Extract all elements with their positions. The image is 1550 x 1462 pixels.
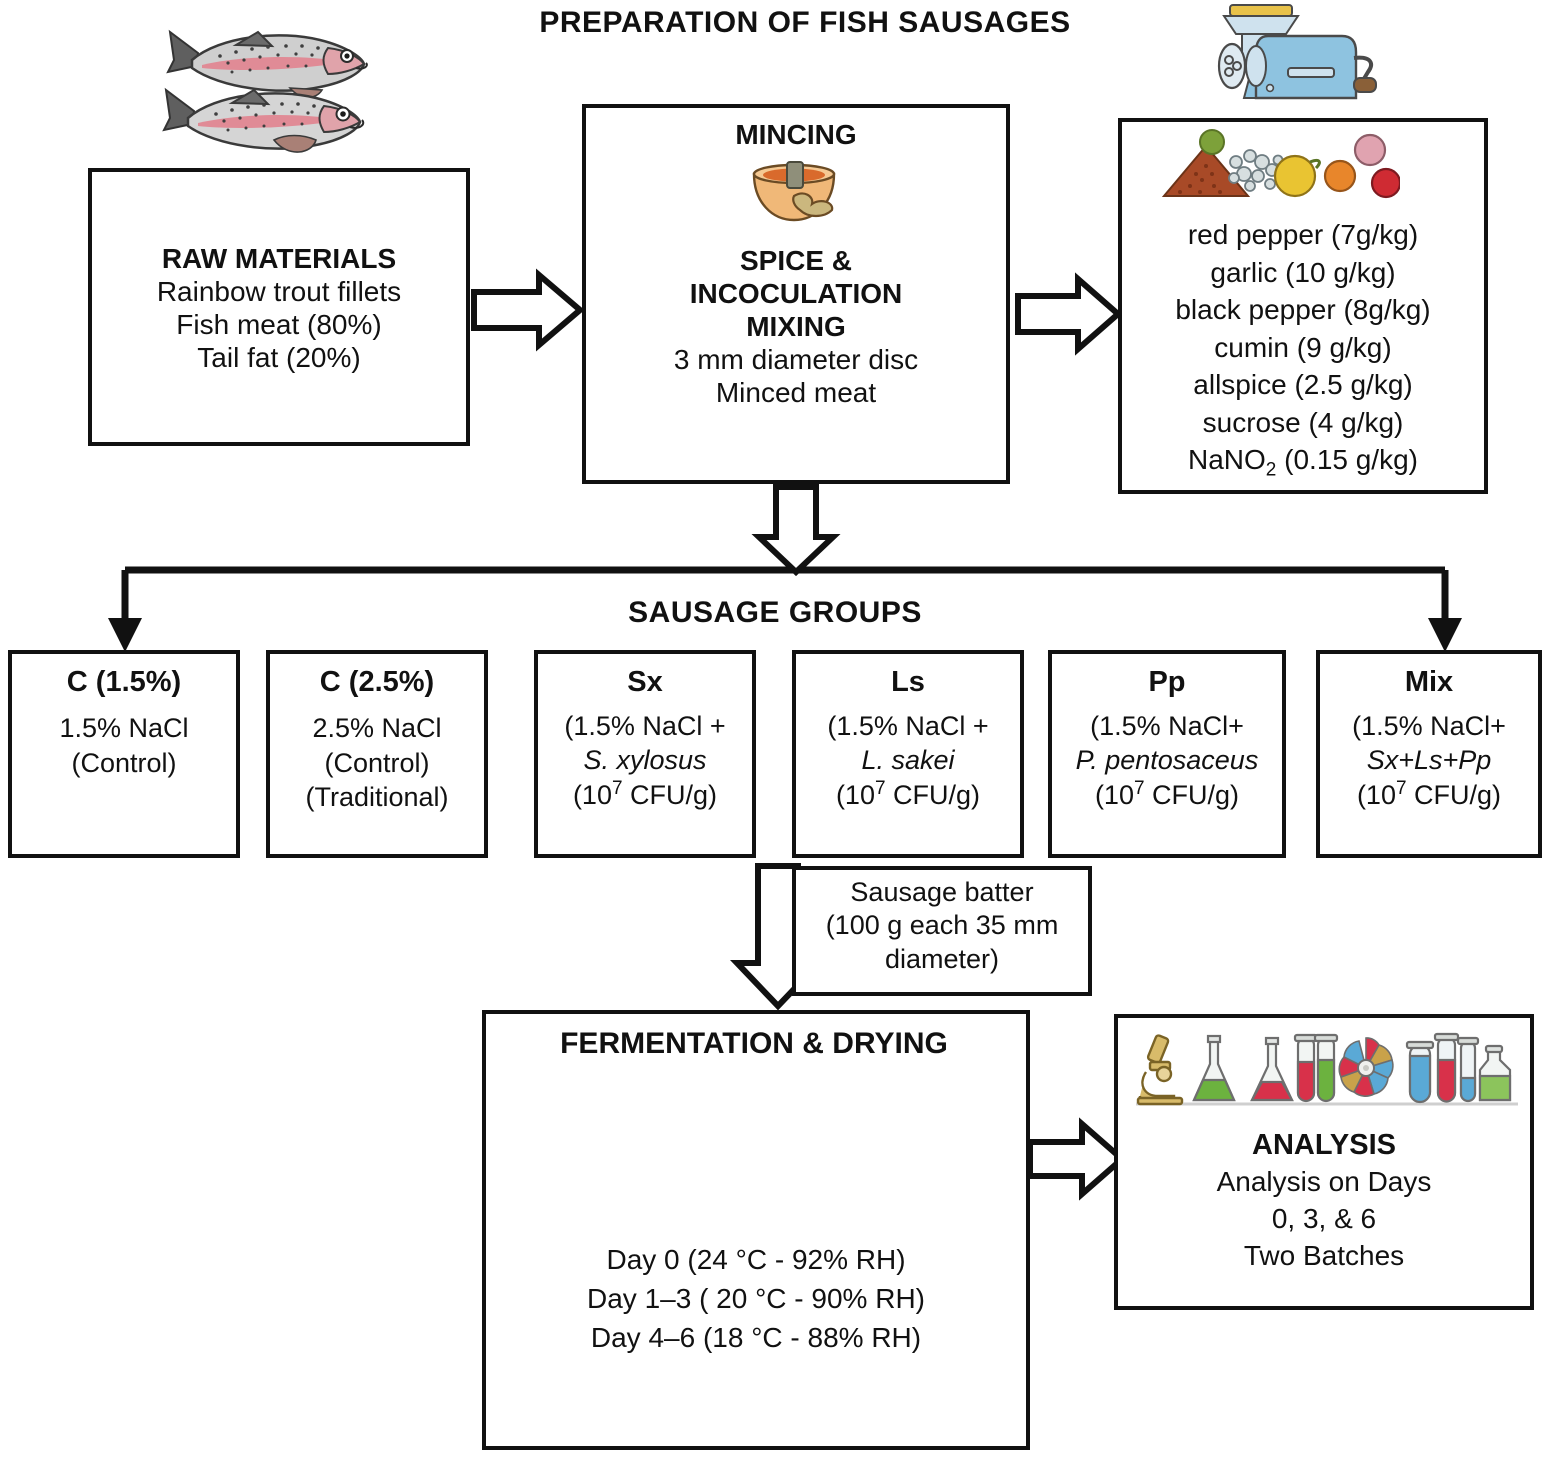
group-sx-cfu-sup: 7	[612, 778, 623, 799]
mincing-heading: MINCING	[582, 118, 1010, 151]
fermentation-conditions-text: Day 0 (24 °C - 92% RH) Day 1–3 ( 20 °C -…	[482, 1240, 1030, 1358]
group-text-ls: Ls (1.5% NaCl + L. sakei (107 CFU/g)	[792, 664, 1024, 812]
mincing-line-1: 3 mm diameter disc	[582, 343, 1010, 376]
group-sx-cfu: (107 CFU/g)	[534, 777, 756, 812]
flowchart-canvas: PREPARATION OF FISH SAUSAGES	[0, 0, 1550, 1462]
mincing-bowl-icon	[742, 160, 846, 224]
mincing-body-text: SPICE & INCOCULATION MIXING 3 mm diamete…	[582, 244, 1010, 409]
analysis-line-3: Two Batches	[1114, 1238, 1534, 1275]
fermentation-day-1-3: Day 1–3 ( 20 °C - 90% RH)	[482, 1279, 1030, 1318]
group-code-c25: C (2.5%)	[266, 664, 488, 701]
group-sx-cfu-post: CFU/g)	[623, 780, 718, 810]
spice-item-sucrose: sucrose (4 g/kg)	[1118, 404, 1488, 442]
analysis-line-1: Analysis on Days	[1114, 1164, 1534, 1201]
spice-item-black-pepper: black pepper (8g/kg)	[1118, 291, 1488, 329]
split-left-arrowhead	[108, 618, 142, 652]
spice-pile-icon	[1150, 128, 1400, 200]
group-mix-cfu-sup: 7	[1396, 778, 1407, 799]
group-ls-strain: L. sakei	[792, 743, 1024, 777]
group-c15-line-2: (Control)	[8, 746, 240, 781]
spice-item-allspice: allspice (2.5 g/kg)	[1118, 366, 1488, 404]
group-ls-cfu-post: CFU/g)	[886, 780, 981, 810]
nano2-post: (0.15 g/kg)	[1276, 444, 1418, 475]
group-c25-line-1: 2.5% NaCl	[266, 711, 488, 746]
spice-item-garlic: garlic (10 g/kg)	[1118, 254, 1488, 292]
fermentation-heading-wrap: FERMENTATION & DRYING	[494, 1026, 1014, 1061]
group-code-c15: C (1.5%)	[8, 664, 240, 701]
group-pp-cfu: (107 CFU/g)	[1046, 777, 1288, 812]
group-ls-line-1: (1.5% NaCl +	[792, 709, 1024, 743]
spices-text: red pepper (7g/kg) garlic (10 g/kg) blac…	[1118, 216, 1488, 483]
group-code-pp: Pp	[1046, 664, 1288, 701]
group-mix-cfu: (107 CFU/g)	[1316, 777, 1542, 812]
group-sx-cfu-pre: (10	[573, 780, 612, 810]
mincing-line-2: Minced meat	[582, 376, 1010, 409]
group-c25-line-2: (Control)	[266, 746, 488, 781]
raw-materials-heading: RAW MATERIALS	[88, 242, 470, 275]
laboratory-glassware-icon	[1134, 1028, 1520, 1108]
group-mix-line-1: (1.5% NaCl+	[1316, 709, 1542, 743]
fermentation-heading: FERMENTATION & DRYING	[554, 1027, 954, 1060]
group-pp-cfu-pre: (10	[1095, 780, 1134, 810]
group-mix-strain: Sx+Ls+Pp	[1316, 743, 1542, 777]
group-text-pp: Pp (1.5% NaCl+ P. pentosaceus (107 CFU/g…	[1046, 664, 1288, 812]
group-sx-line-1: (1.5% NaCl +	[534, 709, 756, 743]
group-mix-cfu-post: CFU/g)	[1407, 780, 1502, 810]
group-c15-line-1: 1.5% NaCl	[8, 711, 240, 746]
block-arrow-fermentation-to-analysis	[1030, 1124, 1122, 1194]
spice-item-cumin: cumin (9 g/kg)	[1118, 329, 1488, 367]
block-arrow-mincing-to-groups	[759, 487, 833, 572]
group-pp-strain: P. pentosaceus	[1046, 743, 1288, 777]
group-pp-cfu-post: CFU/g)	[1145, 780, 1240, 810]
meat-grinder-icon	[1196, 2, 1386, 114]
group-code-mix: Mix	[1316, 664, 1542, 701]
group-mix-cfu-pre: (10	[1357, 780, 1396, 810]
group-pp-line-1: (1.5% NaCl+	[1046, 709, 1288, 743]
analysis-text: ANALYSIS Analysis on Days 0, 3, & 6 Two …	[1114, 1126, 1534, 1275]
sausage-groups-label: SAUSAGE GROUPS	[475, 596, 1075, 630]
raw-materials-line-3: Tail fat (20%)	[88, 341, 470, 374]
nano2-subscript: 2	[1266, 460, 1277, 481]
spice-item-nano2: NaNO2 (0.15 g/kg)	[1118, 441, 1488, 483]
group-text-mix: Mix (1.5% NaCl+ Sx+Ls+Pp (107 CFU/g)	[1316, 664, 1542, 812]
block-arrow-mincing-to-spices	[1018, 279, 1118, 349]
mincing-heading-wrap: MINCING	[582, 118, 1010, 151]
nano2-pre: NaNO	[1188, 444, 1266, 475]
sausage-batter-line-3: diameter)	[792, 943, 1092, 976]
analysis-heading: ANALYSIS	[1114, 1126, 1534, 1164]
raw-materials-line-2: Fish meat (80%)	[88, 308, 470, 341]
group-text-c25: C (2.5%) 2.5% NaCl (Control) (Traditiona…	[266, 664, 488, 815]
group-text-sx: Sx (1.5% NaCl + S. xylosus (107 CFU/g)	[534, 664, 756, 812]
figure-title: PREPARATION OF FISH SAUSAGES	[505, 6, 1105, 40]
spice-item-red-pepper: red pepper (7g/kg)	[1118, 216, 1488, 254]
mincing-subheading-2: INCOCULATION	[582, 277, 1010, 310]
mincing-subheading-3: MIXING	[582, 310, 1010, 343]
group-ls-cfu-sup: 7	[875, 778, 886, 799]
group-code-sx: Sx	[534, 664, 756, 701]
rainbow-trout-icon	[140, 8, 400, 163]
raw-materials-text: RAW MATERIALS Rainbow trout fillets Fish…	[88, 242, 470, 374]
group-text-c15: C (1.5%) 1.5% NaCl (Control)	[8, 664, 240, 780]
fermentation-day-4-6: Day 4–6 (18 °C - 88% RH)	[482, 1318, 1030, 1357]
fermentation-day-0: Day 0 (24 °C - 92% RH)	[482, 1240, 1030, 1279]
group-ls-cfu: (107 CFU/g)	[792, 777, 1024, 812]
sausage-batter-line-2: (100 g each 35 mm	[792, 909, 1092, 942]
mincing-subheading-1: SPICE &	[582, 244, 1010, 277]
fermentation-box	[482, 1010, 1030, 1450]
split-right-arrowhead	[1428, 618, 1462, 652]
raw-materials-line-1: Rainbow trout fillets	[88, 275, 470, 308]
sausage-batter-text: Sausage batter (100 g each 35 mm diamete…	[792, 876, 1092, 976]
group-c25-line-3: (Traditional)	[266, 780, 488, 815]
group-sx-strain: S. xylosus	[534, 743, 756, 777]
sausage-batter-line-1: Sausage batter	[792, 876, 1092, 909]
analysis-line-2: 0, 3, & 6	[1114, 1201, 1534, 1238]
group-pp-cfu-sup: 7	[1134, 778, 1145, 799]
block-arrow-raw-to-mincing	[474, 275, 580, 345]
group-code-ls: Ls	[792, 664, 1024, 701]
group-ls-cfu-pre: (10	[836, 780, 875, 810]
